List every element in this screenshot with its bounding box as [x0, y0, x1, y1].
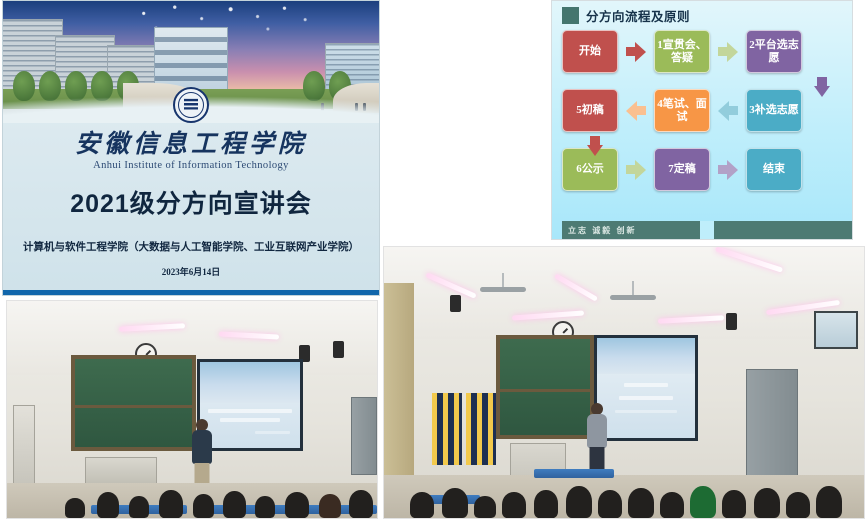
student-head: [502, 492, 526, 518]
arrow-right-icon: [718, 42, 738, 62]
institution-name-en: Anhui Institute of Information Technolog…: [3, 160, 379, 171]
arrow-right-icon: [626, 42, 646, 62]
student-head: [534, 490, 558, 518]
student-head: [285, 492, 309, 518]
student-head: [566, 486, 592, 518]
arrow-down-icon: [814, 77, 830, 97]
photo-lecture-male-presenter: [6, 300, 378, 519]
slide-bottom-accent-bar: [3, 290, 379, 295]
classroom-scene: [7, 301, 377, 518]
student-head: [410, 492, 434, 518]
audience-rows: [7, 444, 377, 518]
student-head: [129, 496, 149, 518]
ceiling-fan-icon: [610, 295, 656, 300]
chalkboard: [496, 335, 594, 439]
window: [814, 311, 858, 349]
slide-campus-image: [597, 338, 695, 374]
student-head: [754, 488, 780, 518]
speaker-icon: [726, 313, 737, 330]
flow-node-5[interactable]: 5初稿: [562, 89, 618, 132]
flowchart-slide: 分方向流程及原则 开始 1宣贯会、答疑 2平台选志愿 5初稿: [551, 0, 853, 240]
chalkboard: [71, 355, 196, 451]
flow-node-4[interactable]: 4笔试、面试: [654, 89, 710, 132]
arrow-left-icon: [626, 101, 646, 121]
student-head: [349, 490, 373, 518]
arrow-down-icon: [587, 136, 603, 156]
slide-campus-image: [200, 362, 300, 403]
classroom-scene-wide: [384, 247, 864, 518]
student-head: [660, 492, 684, 518]
student-head: [97, 492, 119, 518]
student-desk: [203, 505, 295, 514]
flowchart-heading-label: 分方向流程及原则: [586, 6, 690, 25]
flow-row: 6公示 7定稿 结束: [562, 147, 852, 192]
footer-divider: [700, 221, 714, 239]
ceiling-fan-icon: [480, 287, 526, 292]
student-head: [223, 491, 246, 518]
student-head: [474, 496, 496, 518]
student-head: [159, 490, 183, 518]
student-head: [193, 494, 214, 518]
school-seal-icon: [173, 87, 209, 123]
ceiling: [384, 247, 864, 339]
flow-node-2[interactable]: 2平台选志愿: [746, 30, 802, 73]
school-logo-block: 安徽信息工程学院 Anhui Institute of Information …: [3, 87, 379, 171]
flow-node-3[interactable]: 3补选志愿: [746, 89, 802, 132]
student-head: [442, 488, 468, 518]
flow-node-7[interactable]: 7定稿: [654, 148, 710, 191]
student-head: [722, 490, 746, 518]
speaker-icon: [450, 295, 461, 312]
student-head: [319, 494, 341, 518]
heading-marker-icon: [562, 7, 579, 24]
footer-motto-label: 立志 诚毅 创新: [562, 225, 636, 236]
student-head: [628, 488, 654, 518]
flow-node-start[interactable]: 开始: [562, 30, 618, 73]
student-head: [816, 486, 842, 518]
arrow-right-icon: [626, 160, 646, 180]
flow-row: 5初稿 4笔试、面试 3补选志愿: [562, 88, 852, 133]
photo-lecture-female-presenter: [383, 246, 865, 519]
student-head: [598, 490, 622, 518]
institution-name-cn: 安徽信息工程学院: [3, 132, 379, 158]
student-head: [690, 486, 716, 518]
flowchart-grid: 开始 1宣贯会、答疑 2平台选志愿 5初稿 4笔试、: [562, 29, 852, 206]
flow-node-end[interactable]: 结束: [746, 148, 802, 191]
arrow-left-icon: [718, 101, 738, 121]
audience-rows: [384, 426, 864, 518]
student-desk: [534, 469, 614, 478]
student-head: [786, 492, 810, 518]
student-head: [255, 496, 275, 518]
title-slide: 安徽信息工程学院 Anhui Institute of Information …: [2, 0, 380, 296]
subtitle-department: 计算机与软件工程学院（大数据与人工智能学院、工业互联网产业学院）: [3, 239, 379, 254]
flow-node-1[interactable]: 1宣贯会、答疑: [654, 30, 710, 73]
arrow-right-icon: [718, 160, 738, 180]
speaker-icon: [333, 341, 344, 358]
student-head: [65, 498, 85, 518]
flowchart-heading: 分方向流程及原则: [562, 6, 690, 25]
presentation-date: 2023年6月14日: [3, 265, 379, 278]
collage-canvas: 安徽信息工程学院 Anhui Institute of Information …: [0, 0, 865, 519]
flow-row: 开始 1宣贯会、答疑 2平台选志愿: [562, 29, 852, 74]
page-title: 2021级分方向宣讲会: [3, 184, 379, 220]
